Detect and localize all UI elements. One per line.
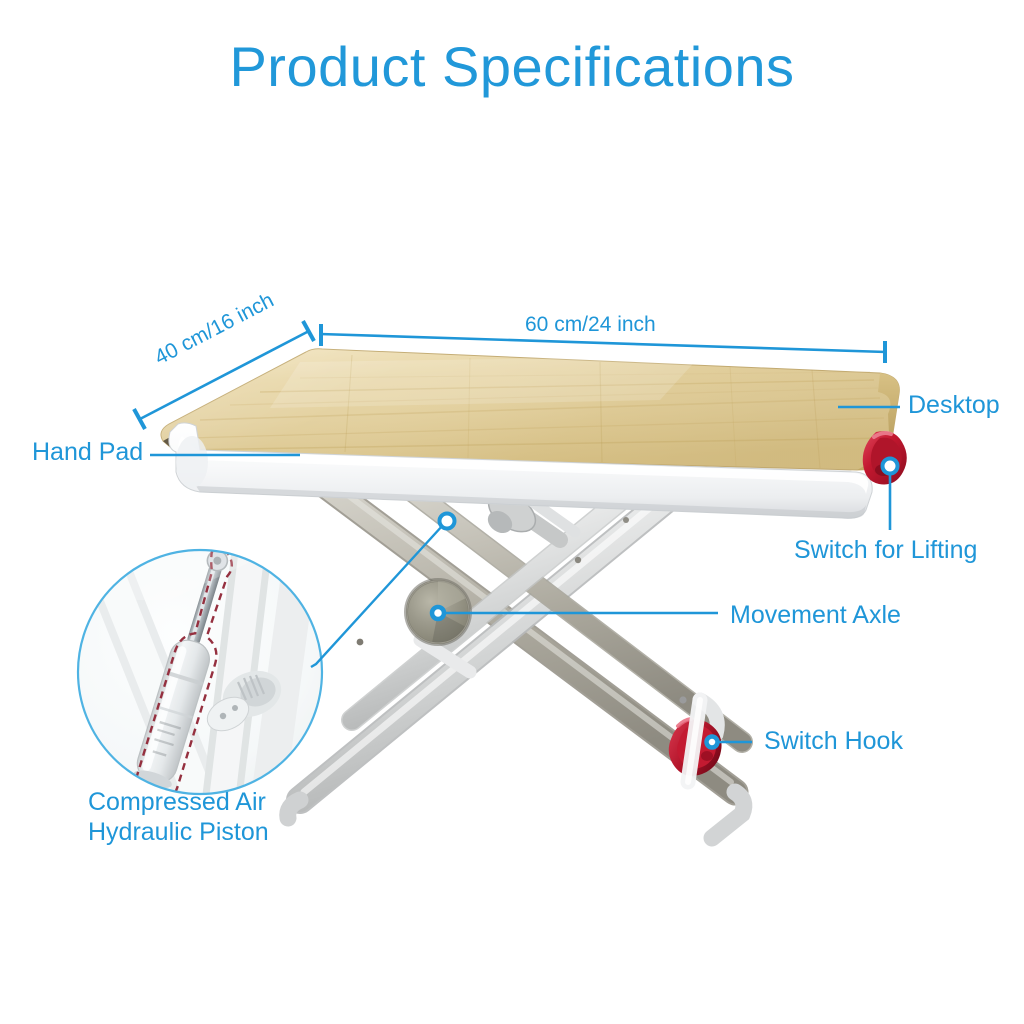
product-spec-diagram: Product Specifications: [0, 0, 1024, 1024]
marker-switch-lifting: [883, 459, 898, 474]
dimtick-depth-top: [303, 321, 314, 341]
callout-movement-axle: Movement Axle: [730, 601, 901, 630]
callout-switch-hook: Switch Hook: [764, 727, 903, 756]
desktop-assembly: [161, 349, 907, 519]
scissor-frame: [288, 466, 744, 838]
callout-piston-line1: Compressed Air: [88, 787, 358, 817]
callout-switch-for-lifting: Switch for Lifting: [794, 536, 977, 565]
dimension-label-width: 60 cm/24 inch: [525, 313, 656, 337]
callout-desktop: Desktop: [908, 391, 1000, 420]
dimtick-depth-bottom: [134, 409, 145, 429]
callout-piston: Compressed Air Hydraulic Piston: [88, 787, 358, 847]
marker-switch-hook: [707, 737, 718, 748]
piston-detail-inset: [78, 540, 322, 804]
marker-piston: [440, 514, 455, 529]
callout-hand-pad: Hand Pad: [32, 438, 143, 467]
marker-movement-axle: [432, 607, 444, 619]
callout-piston-line2: Hydraulic Piston: [88, 817, 358, 847]
desktop-surface: [161, 349, 899, 470]
product-illustration: [0, 0, 1024, 1024]
